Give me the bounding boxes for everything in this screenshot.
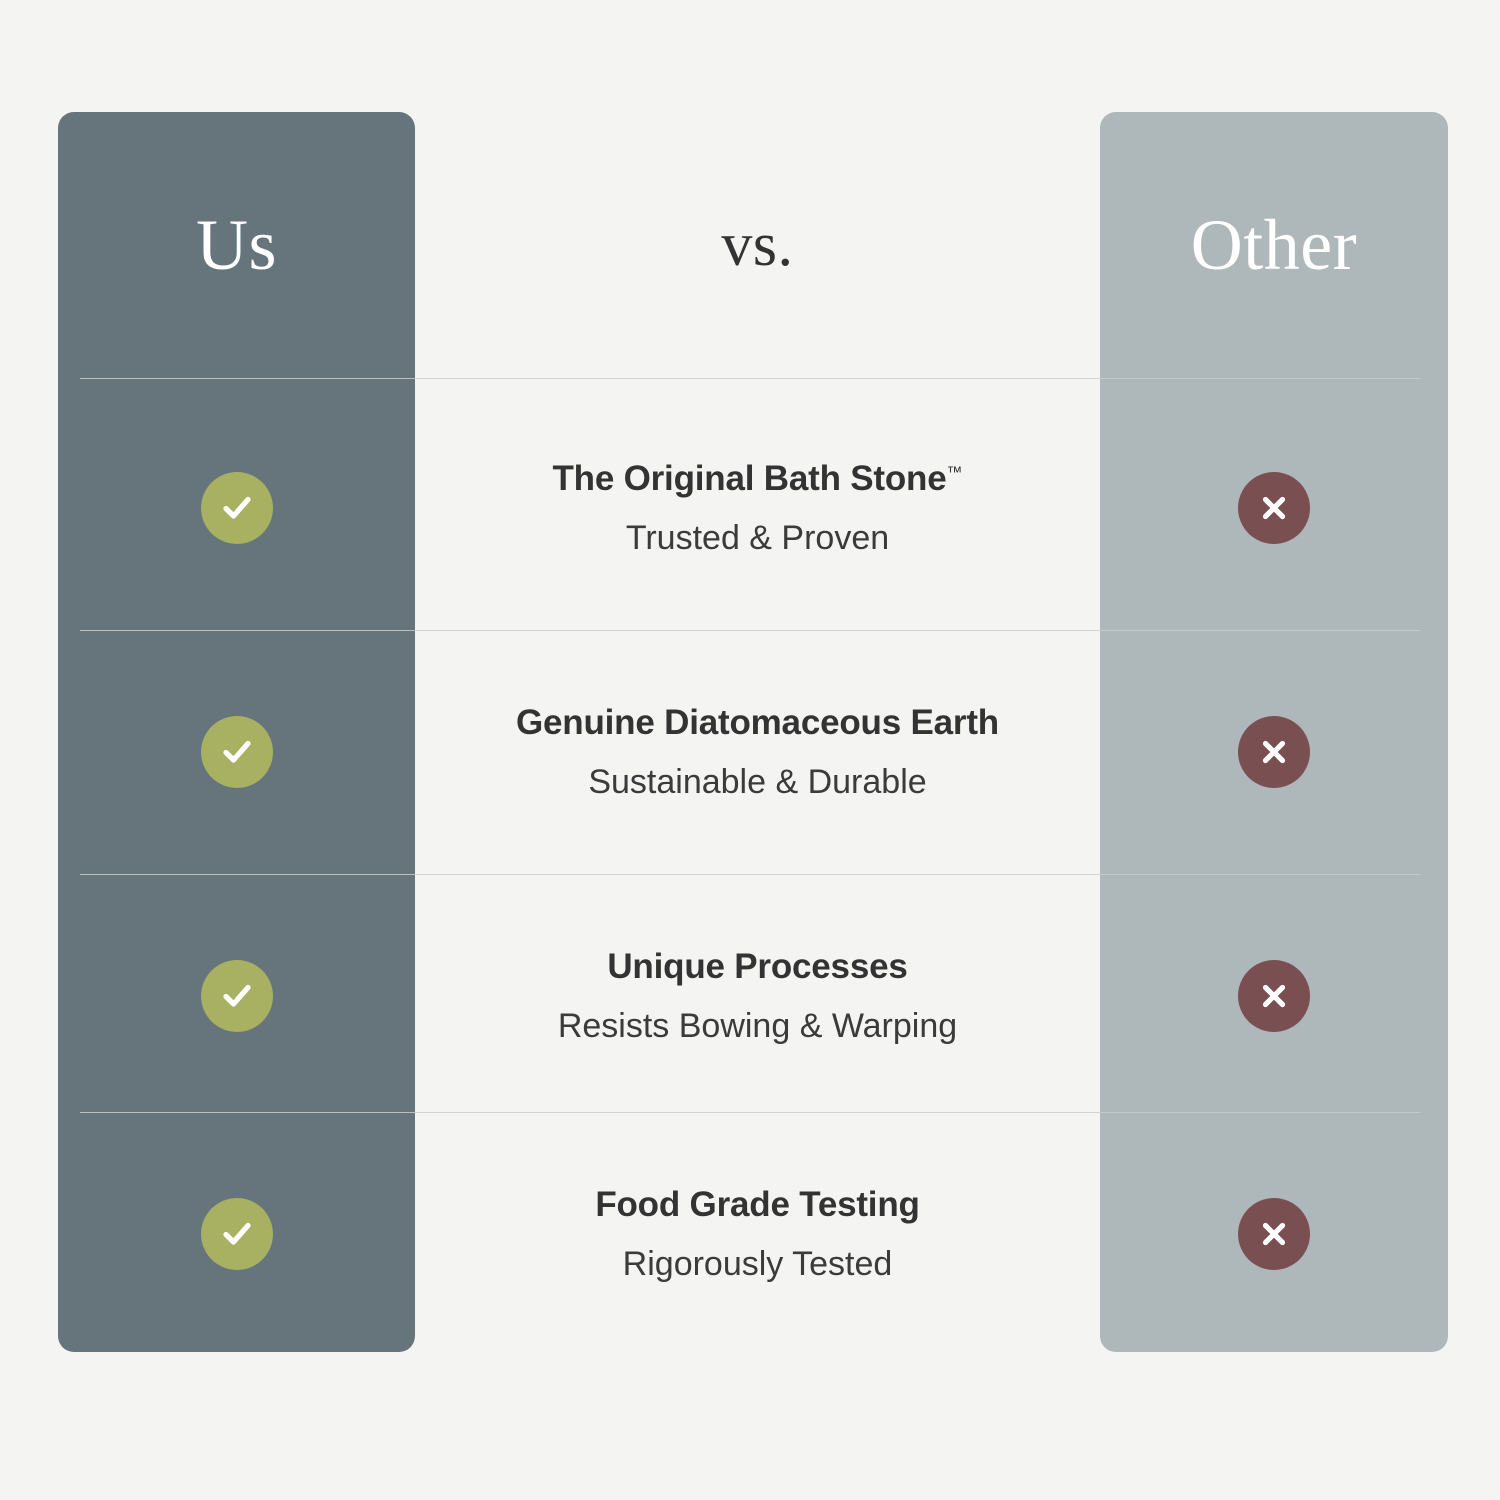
other-column-title: Other [1191, 209, 1357, 281]
feature-title: Genuine Diatomaceous Earth [516, 702, 999, 744]
feature-subtitle: Trusted & Proven [626, 518, 889, 559]
header-cell-vs: vs. [415, 112, 1100, 378]
us-mark-cell [58, 874, 415, 1118]
table-row: Unique Processes Resists Bowing & Warpin… [58, 874, 1448, 1118]
other-mark-cell [1100, 386, 1448, 630]
feature-title: Food Grade Testing [595, 1184, 919, 1226]
cross-icon [1238, 716, 1310, 788]
feature-subtitle: Rigorously Tested [623, 1244, 893, 1285]
us-mark-cell [58, 386, 415, 630]
versus-label: vs. [721, 214, 793, 276]
check-icon [201, 472, 273, 544]
check-icon [201, 960, 273, 1032]
feature-title: The Original Bath Stone™ [552, 458, 962, 500]
us-mark-cell [58, 1112, 415, 1356]
feature-subtitle: Sustainable & Durable [588, 762, 926, 803]
feature-title: Unique Processes [607, 946, 907, 988]
row-divider-1 [80, 378, 1420, 379]
other-mark-cell [1100, 630, 1448, 874]
us-mark-cell [58, 630, 415, 874]
us-column-title: Us [196, 209, 277, 281]
feature-text-cell: The Original Bath Stone™ Trusted & Prove… [415, 386, 1100, 630]
cross-icon [1238, 960, 1310, 1032]
feature-text-cell: Food Grade Testing Rigorously Tested [415, 1112, 1100, 1356]
header-cell-us: Us [58, 112, 415, 378]
table-header-row: Us vs. Other [58, 112, 1448, 378]
check-icon [201, 716, 273, 788]
check-icon [201, 1198, 273, 1270]
other-mark-cell [1100, 874, 1448, 1118]
header-cell-other: Other [1100, 112, 1448, 378]
feature-text-cell: Genuine Diatomaceous Earth Sustainable &… [415, 630, 1100, 874]
table-row: Food Grade Testing Rigorously Tested [58, 1112, 1448, 1356]
cross-icon [1238, 1198, 1310, 1270]
feature-text-cell: Unique Processes Resists Bowing & Warpin… [415, 874, 1100, 1118]
trademark-symbol: ™ [947, 464, 963, 481]
cross-icon [1238, 472, 1310, 544]
feature-subtitle: Resists Bowing & Warping [558, 1006, 957, 1047]
table-row: Genuine Diatomaceous Earth Sustainable &… [58, 630, 1448, 874]
table-row: The Original Bath Stone™ Trusted & Prove… [58, 386, 1448, 630]
other-mark-cell [1100, 1112, 1448, 1356]
comparison-table: Us vs. Other The Original Bath Stone™ Tr… [0, 0, 1500, 1500]
